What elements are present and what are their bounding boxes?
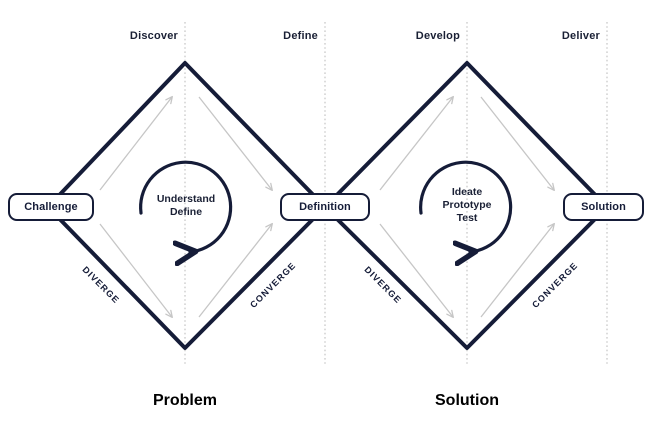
node-definition[interactable]: Definition bbox=[280, 193, 370, 221]
solution-cycle-text: Ideate Prototype Test bbox=[425, 186, 509, 225]
solution-cycle-line-1: Ideate bbox=[425, 186, 509, 199]
phase-label-define: Define bbox=[238, 30, 318, 42]
node-definition-label: Definition bbox=[299, 201, 351, 213]
node-solution[interactable]: Solution bbox=[563, 193, 644, 221]
double-diamond-diagram: Discover Define Develop Deliver Challeng… bbox=[0, 0, 652, 427]
solution-cycle-line-2: Prototype bbox=[425, 199, 509, 212]
problem-cycle-line-2: Define bbox=[145, 206, 227, 219]
arrow-develop-up bbox=[380, 97, 453, 190]
node-solution-label: Solution bbox=[581, 201, 626, 213]
problem-cycle-text: Understand Define bbox=[145, 193, 227, 219]
phase-label-develop: Develop bbox=[380, 30, 460, 42]
phase-label-deliver: Deliver bbox=[520, 30, 600, 42]
phase-divider-lines bbox=[185, 22, 607, 366]
diamond-title-solution: Solution bbox=[407, 392, 527, 410]
solution-cycle-line-3: Test bbox=[425, 212, 509, 225]
phase-label-discover: Discover bbox=[98, 30, 178, 42]
node-challenge-label: Challenge bbox=[24, 201, 77, 213]
diamond-title-problem: Problem bbox=[125, 392, 245, 410]
problem-cycle-line-1: Understand bbox=[145, 193, 227, 206]
node-challenge[interactable]: Challenge bbox=[8, 193, 94, 221]
